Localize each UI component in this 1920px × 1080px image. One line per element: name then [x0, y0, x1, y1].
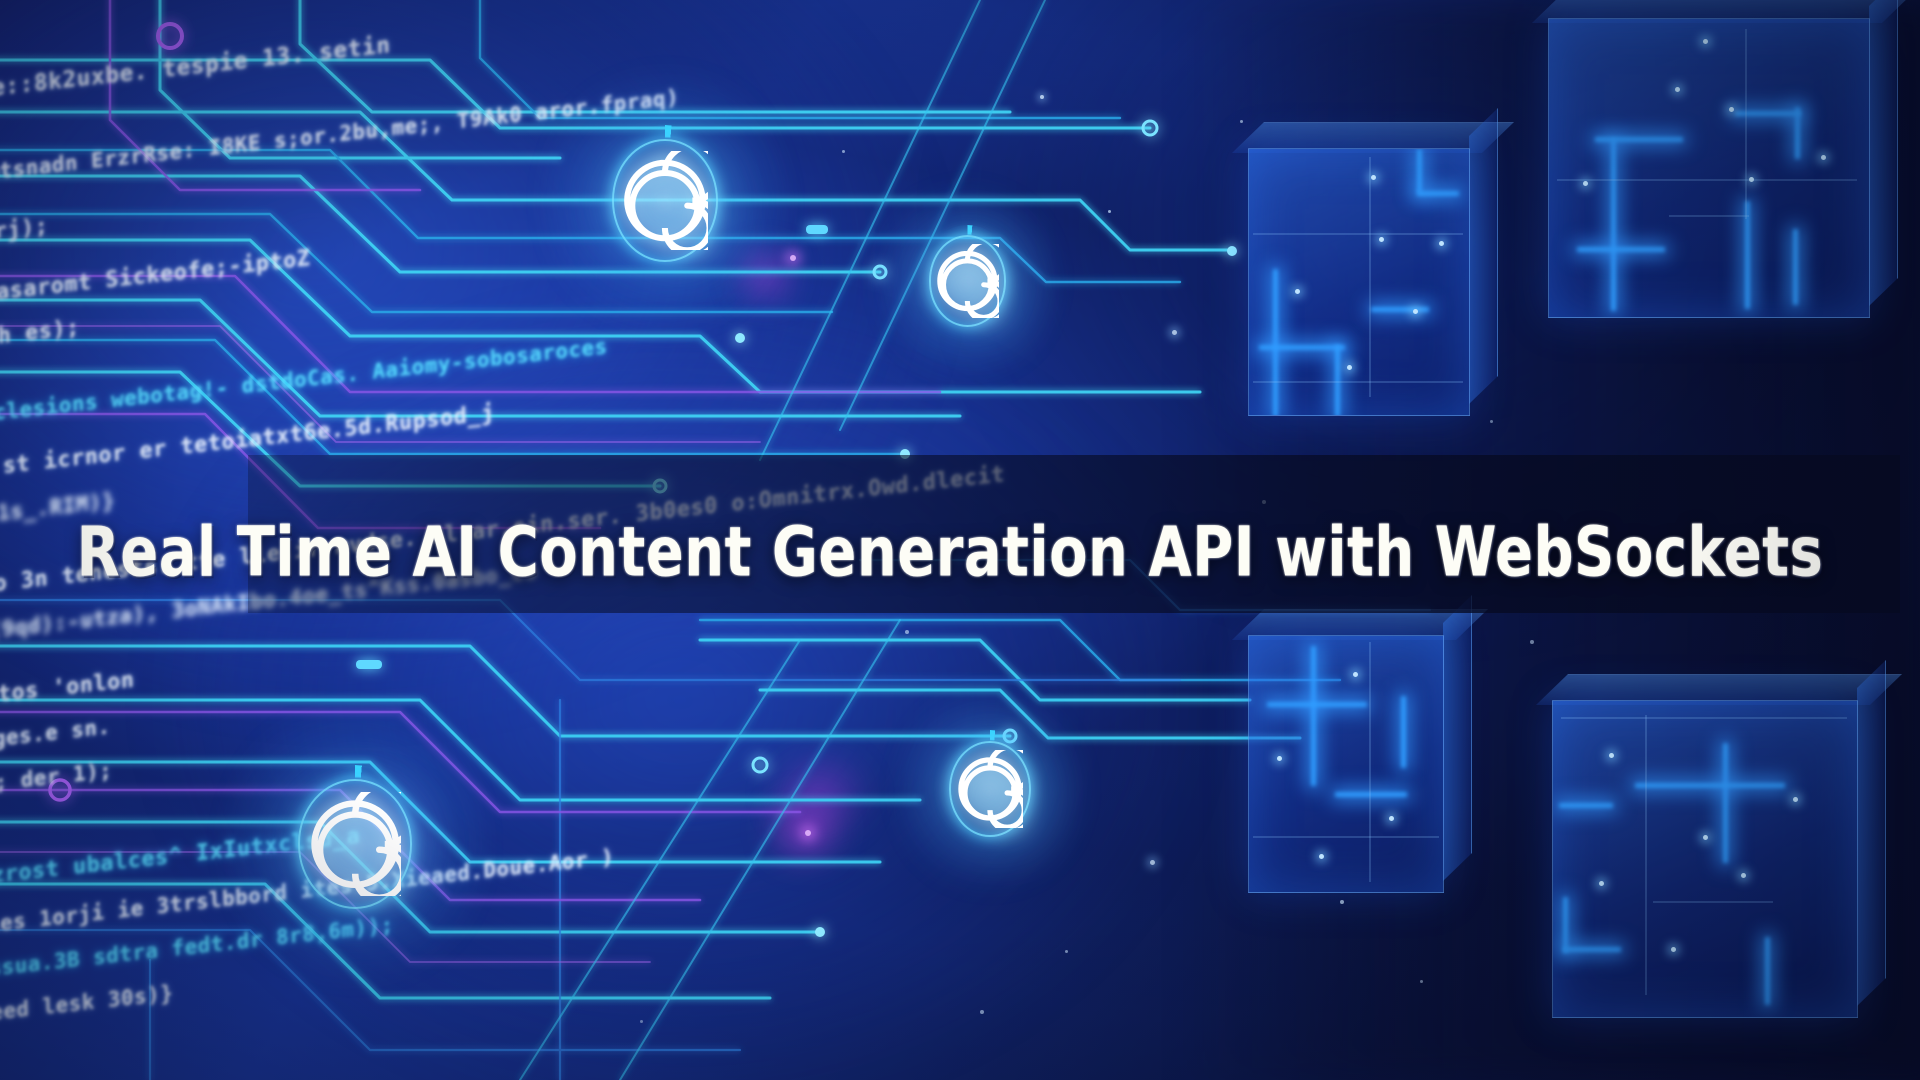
data-cube-upper-left — [1248, 148, 1470, 416]
spiral-icon — [936, 244, 999, 318]
spiral-icon — [309, 792, 401, 896]
cube-side-face — [1469, 108, 1498, 404]
data-cube-lower-right — [1552, 700, 1858, 1018]
cube-front-face — [1248, 635, 1444, 893]
cube-side-face — [1857, 660, 1886, 1006]
spiral-icon — [622, 151, 708, 250]
spiral-node-bottom-center — [940, 730, 1040, 848]
hero-banner: { pmd-ymelstales 3.setep=nt); RIRR itige… — [0, 0, 1920, 1080]
data-cube-lower-left — [1248, 635, 1444, 893]
page-title: Real Time AI Content Generation API with… — [0, 518, 1920, 590]
cube-side-face — [1869, 0, 1898, 306]
data-cube-upper-right — [1548, 18, 1870, 318]
spiral-node-top-left — [600, 125, 730, 275]
spiral-node-bottom-left — [285, 765, 425, 923]
cube-front-face — [1548, 18, 1870, 318]
cube-front-face — [1248, 148, 1470, 416]
spiral-icon — [957, 750, 1023, 828]
spiral-node-top-center — [920, 225, 1015, 337]
cube-front-face — [1552, 700, 1858, 1018]
cube-side-face — [1443, 595, 1472, 881]
